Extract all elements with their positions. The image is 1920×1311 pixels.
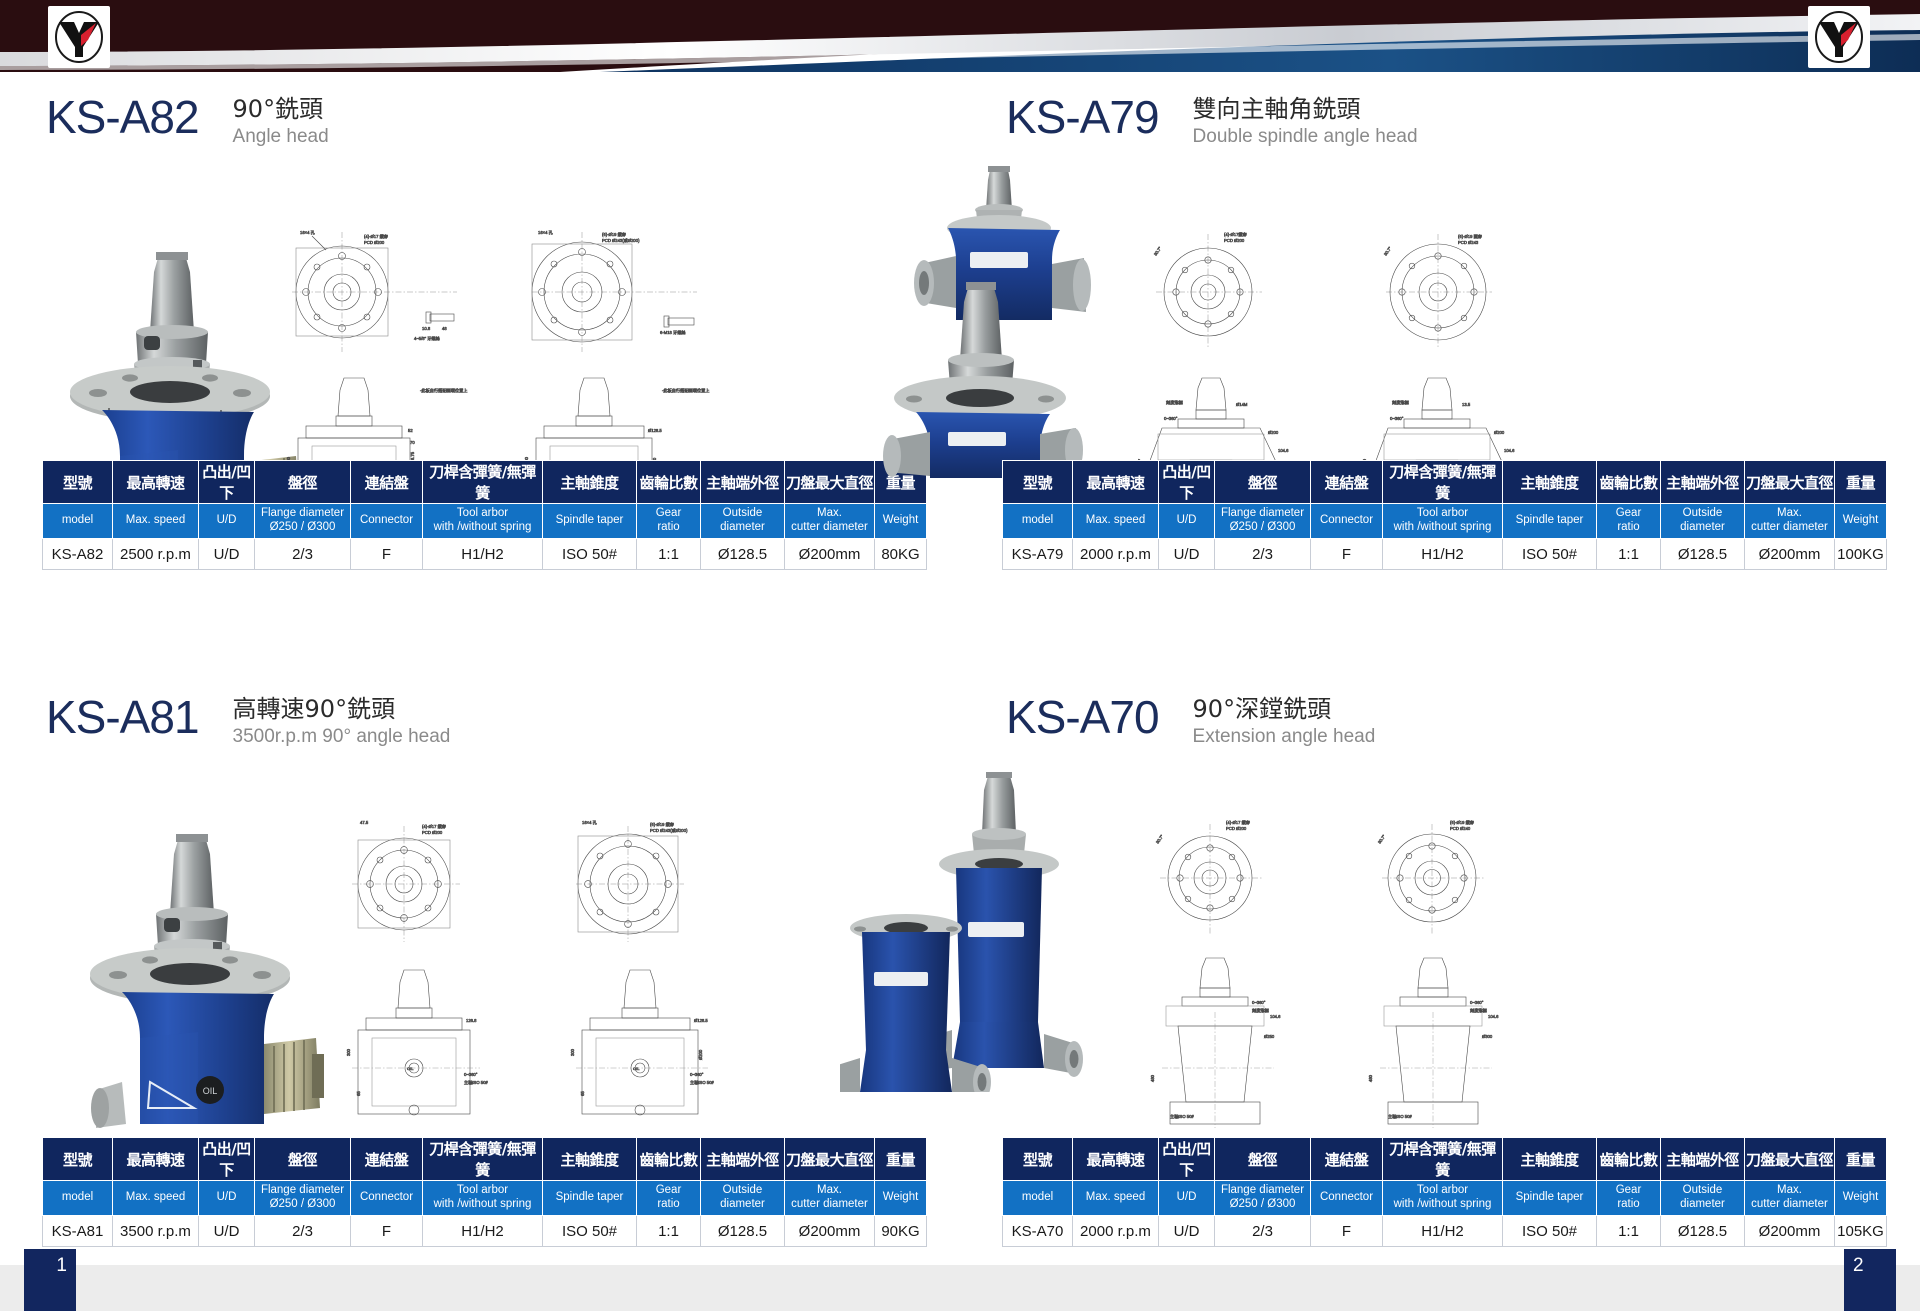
th-en-5: Tool arborwith /without spring — [423, 504, 543, 539]
th-zh-4: 連結盤 — [351, 461, 423, 504]
model-code: KS-A70 — [1006, 694, 1159, 740]
th-en-6: Spindle taper — [543, 1181, 637, 1216]
product-title-zh: 90°深鏜銑頭 — [1193, 695, 1376, 724]
svg-text:65: 65 — [356, 1091, 361, 1096]
svg-text:480: 480 — [1150, 1074, 1155, 1082]
svg-text:104.6: 104.6 — [1270, 1014, 1281, 1019]
th-zh-0: 型號 — [43, 461, 113, 504]
th-zh-5: 刀桿含彈簧/無彈簧 — [1383, 1138, 1503, 1181]
th-en-2: U/D — [199, 1181, 255, 1216]
spec-table-ks-a70: 型號 最高轉速 凸出/凹下 盤徑 連結盤 刀桿含彈簧/無彈簧 主軸錐度 齒輪比數… — [1002, 1137, 1887, 1247]
th-en-0: model — [1003, 1181, 1073, 1216]
th-zh-3: 盤徑 — [255, 1138, 351, 1181]
svg-text:65: 65 — [580, 1091, 585, 1096]
cell-ud: U/D — [199, 539, 255, 570]
th-en-7: Gearratio — [1597, 504, 1661, 539]
th-en-1: Max. speed — [1073, 504, 1159, 539]
cell-model: KS-A79 — [1003, 539, 1073, 570]
cell-max-speed: 2500 r.p.m — [113, 539, 199, 570]
svg-text:PCD Ø200: PCD Ø200 — [1224, 238, 1245, 243]
th-en-3: Flange diameterØ250 / Ø300 — [255, 1181, 351, 1216]
th-en-1: Max. speed — [113, 504, 199, 539]
svg-text:OIL: OIL — [203, 1086, 218, 1096]
th-zh-5: 刀桿含彈簧/無彈簧 — [423, 461, 543, 504]
th-en-2: U/D — [1159, 1181, 1215, 1216]
svg-text:300: 300 — [346, 1048, 351, 1056]
svg-text:Ø128.5: Ø128.5 — [648, 428, 662, 433]
svg-text:(6)-Ø19 圓穿: (6)-Ø19 圓穿 — [1458, 233, 1482, 240]
product-title-zh: 高轉速90°銑頭 — [233, 695, 451, 724]
svg-text:4~5/8" 牙螺絲: 4~5/8" 牙螺絲 — [414, 335, 441, 342]
th-zh-1: 最高轉速 — [113, 1138, 199, 1181]
th-en-6: Spindle taper — [1503, 504, 1597, 539]
cell-tool-arbor: H1/H2 — [423, 1216, 543, 1247]
th-en-0: model — [1003, 504, 1073, 539]
model-code: KS-A81 — [46, 694, 199, 740]
cell-max-speed: 2000 r.p.m — [1073, 1216, 1159, 1247]
th-zh-8: 主軸端外徑 — [1661, 1138, 1745, 1181]
product-title-ks-a70: KS-A70 90°深鏜銑頭 Extension angle head — [1006, 694, 1375, 748]
product-title-ks-a82: KS-A82 90°銑頭 Angle head — [46, 94, 329, 148]
cell-flange-diameter: 2/3 — [255, 539, 351, 570]
svg-text:0~360°: 0~360° — [1252, 1000, 1266, 1005]
cell-spindle-taper: ISO 50# — [1503, 539, 1597, 570]
header-row-zh: 型號 最高轉速 凸出/凹下 盤徑 連結盤 刀桿含彈簧/無彈簧 主軸錐度 齒輪比數… — [1003, 1138, 1887, 1181]
company-logo-left — [48, 6, 110, 68]
th-zh-8: 主軸端外徑 — [1661, 461, 1745, 504]
svg-text:104.6: 104.6 — [1488, 1014, 1499, 1019]
th-zh-1: 最高轉速 — [1073, 1138, 1159, 1181]
svg-text:主軸ISO 50#: 主軸ISO 50# — [464, 1079, 488, 1086]
th-zh-4: 連結盤 — [1311, 1138, 1383, 1181]
svg-text:PCD Ø200: PCD Ø200 — [364, 240, 385, 245]
svg-text:主軸ISO 50#: 主軸ISO 50# — [1388, 1113, 1412, 1120]
th-zh-10: 重量 — [1835, 1138, 1887, 1181]
svg-text:16×4 孔: 16×4 孔 — [582, 819, 598, 826]
ks-a70-extension-angle-head-photo — [840, 762, 1160, 1092]
th-en-8: Outsidediameter — [1661, 504, 1745, 539]
th-en-7: Gearratio — [637, 1181, 701, 1216]
th-en-8: Outsidediameter — [1661, 1181, 1745, 1216]
svg-text:PCD Ø243: PCD Ø243 — [1458, 240, 1479, 245]
th-en-0: model — [43, 504, 113, 539]
th-en-8: Outsidediameter — [701, 1181, 785, 1216]
cell-outside-diameter: Ø128.5 — [701, 539, 785, 570]
cell-ud: U/D — [199, 1216, 255, 1247]
product-title-en: Angle head — [233, 125, 329, 148]
th-zh-7: 齒輪比數 — [1597, 1138, 1661, 1181]
svg-text:300: 300 — [570, 1048, 575, 1056]
svg-text:OIL: OIL — [633, 1066, 640, 1071]
svg-text:52: 52 — [408, 428, 413, 433]
th-zh-10: 重量 — [1835, 461, 1887, 504]
cell-connector: F — [351, 1216, 423, 1247]
svg-text:(6)-Ø19 鑽穿: (6)-Ø19 鑽穿 — [602, 231, 626, 238]
svg-text:刻度指標: 刻度指標 — [1252, 1007, 1270, 1014]
product-title-en: Extension angle head — [1193, 725, 1376, 748]
product-title-en: Double spindle angle head — [1193, 125, 1418, 148]
svg-text:Ø200: Ø200 — [1268, 430, 1279, 435]
cell-model: KS-A70 — [1003, 1216, 1073, 1247]
cell-connector: F — [1311, 1216, 1383, 1247]
th-en-10: Weight — [875, 1181, 927, 1216]
cell-model: KS-A81 — [43, 1216, 113, 1247]
cell-weight: 105KG — [1835, 1216, 1887, 1247]
cell-connector: F — [1311, 539, 1383, 570]
svg-text:(4)-Ø17 鑽穿: (4)-Ø17 鑽穿 — [364, 233, 388, 240]
product-title-en: 3500r.p.m 90° angle head — [233, 725, 451, 748]
svg-text:PCD Ø240: PCD Ø240 — [1450, 826, 1471, 831]
top-banner — [0, 0, 1920, 72]
th-zh-6: 主軸錐度 — [1503, 461, 1597, 504]
cell-gear-ratio: 1:1 — [1597, 539, 1661, 570]
th-zh-2: 凸出/凹下 — [1159, 461, 1215, 504]
th-zh-10: 重量 — [875, 1138, 927, 1181]
th-zh-7: 齒輪比數 — [637, 461, 701, 504]
svg-text:-此板自行搭配圈環位置上: -此板自行搭配圈環位置上 — [420, 387, 467, 394]
cell-weight: 100KG — [1835, 539, 1887, 570]
svg-text:0~360°: 0~360° — [1164, 416, 1178, 421]
svg-text:(4)-Ø17 鑽穿: (4)-Ø17 鑽穿 — [1226, 819, 1250, 826]
svg-text:10.8: 10.8 — [422, 326, 431, 331]
svg-text:(6)-Ø19 鑽穿: (6)-Ø19 鑽穿 — [650, 821, 674, 828]
th-zh-7: 齒輪比數 — [637, 1138, 701, 1181]
cell-weight: 80KG — [875, 539, 927, 570]
svg-text:16×4 孔: 16×4 孔 — [300, 229, 316, 236]
svg-text:PCD Ø200: PCD Ø200 — [422, 830, 443, 835]
svg-text:0~360°: 0~360° — [690, 1072, 704, 1077]
cell-tool-arbor: H1/H2 — [423, 539, 543, 570]
th-zh-1: 最高轉速 — [113, 461, 199, 504]
th-en-6: Spindle taper — [1503, 1181, 1597, 1216]
th-en-0: model — [43, 1181, 113, 1216]
th-zh-8: 主軸端外徑 — [701, 1138, 785, 1181]
product-title-ks-a81: KS-A81 高轉速90°銑頭 3500r.p.m 90° angle head — [46, 694, 450, 748]
th-zh-3: 盤徑 — [1215, 1138, 1311, 1181]
th-en-4: Connector — [351, 1181, 423, 1216]
product-block-ks-a81: KS-A81 高轉速90°銑頭 3500r.p.m 90° angle head — [0, 672, 960, 1242]
cell-max-speed: 3500 r.p.m — [113, 1216, 199, 1247]
th-en-5: Tool arborwith /without spring — [423, 1181, 543, 1216]
spec-table-ks-a81: 型號 最高轉速 凸出/凹下 盤徑 連結盤 刀桿含彈簧/無彈簧 主軸錐度 齒輪比數… — [42, 1137, 927, 1247]
cell-spindle-taper: ISO 50# — [543, 539, 637, 570]
svg-text:Ø250: Ø250 — [1264, 1034, 1275, 1039]
th-zh-6: 主軸錐度 — [1503, 1138, 1597, 1181]
th-en-6: Spindle taper — [543, 504, 637, 539]
svg-text:(4)-Ø17 鑽穿: (4)-Ø17 鑽穿 — [422, 823, 446, 830]
th-en-4: Connector — [351, 504, 423, 539]
cell-max-cutter-diameter: Ø200mm — [1745, 539, 1835, 570]
cell-outside-diameter: Ø128.5 — [701, 1216, 785, 1247]
product-block-ks-a79: KS-A79 雙向主軸角銑頭 Double spindle angle head — [960, 72, 1920, 672]
svg-text:47.5: 47.5 — [360, 820, 369, 825]
th-zh-7: 齒輪比數 — [1597, 461, 1661, 504]
th-en-9: Max.cutter diameter — [1745, 504, 1835, 539]
svg-text:13.5: 13.5 — [1462, 402, 1471, 407]
cell-spindle-taper: ISO 50# — [543, 1216, 637, 1247]
svg-text:刻度指標: 刻度指標 — [1166, 399, 1184, 406]
footer-divider — [0, 1262, 1920, 1265]
header-row-en: model Max. speed U/D Flange diameterØ250… — [43, 1181, 927, 1216]
svg-text:30.7°: 30.7° — [1377, 833, 1387, 844]
svg-text:48: 48 — [442, 326, 447, 331]
svg-text:OIL: OIL — [407, 1066, 414, 1071]
cell-model: KS-A82 — [43, 539, 113, 570]
th-en-3: Flange diameterØ250 / Ø300 — [1215, 1181, 1311, 1216]
th-zh-5: 刀桿含彈簧/無彈簧 — [423, 1138, 543, 1181]
header-row-zh: 型號 最高轉速 凸出/凹下 盤徑 連結盤 刀桿含彈簧/無彈簧 主軸錐度 齒輪比數… — [43, 1138, 927, 1181]
header-row-en: model Max. speed U/D Flange diameterØ250… — [1003, 504, 1887, 539]
th-zh-6: 主軸錐度 — [543, 1138, 637, 1181]
th-zh-2: 凸出/凹下 — [199, 1138, 255, 1181]
ks-a70-technical-drawings: (4)-Ø17 鑽穿 PCD Ø200 30.7° (6)-Ø19 鑽穿 PCD… — [1140, 812, 1840, 1132]
spec-table-ks-a82: 型號 最高轉速 凸出/凹下 盤徑 連結盤 刀桿含彈簧/無彈簧 主軸錐度 齒輪比數… — [42, 460, 927, 570]
th-en-5: Tool arborwith /without spring — [1383, 504, 1503, 539]
cell-gear-ratio: 1:1 — [637, 1216, 701, 1247]
th-en-2: U/D — [1159, 504, 1215, 539]
svg-text:Ø14M: Ø14M — [1236, 402, 1248, 407]
svg-text:104.6: 104.6 — [1278, 448, 1289, 453]
svg-text:126.8: 126.8 — [466, 1018, 477, 1023]
cell-flange-diameter: 2/3 — [1215, 1216, 1311, 1247]
ks-a81-high-speed-angle-head-photo: OIL — [78, 832, 328, 1132]
svg-text:主軸ISO 50#: 主軸ISO 50# — [1170, 1113, 1194, 1120]
footer-bar — [0, 1265, 1920, 1311]
svg-text:0~360°: 0~360° — [1390, 416, 1404, 421]
cell-max-speed: 2000 r.p.m — [1073, 539, 1159, 570]
svg-text:刻度指標: 刻度指標 — [1392, 399, 1410, 406]
svg-text:Ø200: Ø200 — [698, 1049, 703, 1060]
company-y-logo-icon — [1812, 9, 1866, 65]
th-en-3: Flange diameterØ250 / Ø300 — [1215, 504, 1311, 539]
th-en-9: Max.cutter diameter — [1745, 1181, 1835, 1216]
product-title-zh: 90°銑頭 — [233, 95, 329, 124]
cell-flange-diameter: 2/3 — [255, 1216, 351, 1247]
svg-text:Ø128.5: Ø128.5 — [694, 1018, 708, 1023]
th-en-1: Max. speed — [1073, 1181, 1159, 1216]
th-zh-9: 刀盤最大直徑 — [1745, 461, 1835, 504]
ks-a79-double-spindle-photo — [860, 152, 1180, 482]
th-zh-9: 刀盤最大直徑 — [1745, 1138, 1835, 1181]
th-zh-5: 刀桿含彈簧/無彈簧 — [1383, 461, 1503, 504]
th-zh-2: 凸出/凹下 — [1159, 1138, 1215, 1181]
page-number-right: 2 — [1844, 1249, 1896, 1311]
cell-ud: U/D — [1159, 539, 1215, 570]
th-zh-2: 凸出/凹下 — [199, 461, 255, 504]
th-en-9: Max.cutter diameter — [785, 1181, 875, 1216]
product-title-zh: 雙向主軸角銑頭 — [1193, 95, 1418, 124]
svg-text:Ø300: Ø300 — [1482, 1034, 1493, 1039]
th-zh-0: 型號 — [43, 1138, 113, 1181]
th-en-10: Weight — [1835, 504, 1887, 539]
svg-text:6-M18 牙螺絲: 6-M18 牙螺絲 — [660, 329, 686, 336]
product-block-ks-a82: KS-A82 90°銑頭 Angle head — [0, 72, 960, 672]
svg-text:16×4 孔: 16×4 孔 — [538, 229, 554, 236]
table-row: KS-A79 2000 r.p.m U/D 2/3 F H1/H2 ISO 50… — [1003, 539, 1887, 570]
page-number-left: 1 — [24, 1249, 76, 1311]
th-en-1: Max. speed — [113, 1181, 199, 1216]
th-zh-0: 型號 — [1003, 1138, 1073, 1181]
model-code: KS-A79 — [1006, 94, 1159, 140]
company-y-logo-icon — [52, 9, 106, 65]
cell-max-cutter-diameter: Ø200mm — [1745, 1216, 1835, 1247]
header-row-en: model Max. speed U/D Flange diameterØ250… — [43, 504, 927, 539]
cell-gear-ratio: 1:1 — [637, 539, 701, 570]
product-block-ks-a70: KS-A70 90°深鏜銑頭 Extension angle head — [960, 672, 1920, 1242]
th-en-8: Outsidediameter — [701, 504, 785, 539]
th-en-2: U/D — [199, 504, 255, 539]
svg-text:PCD Ø243(或Ø200): PCD Ø243(或Ø200) — [650, 827, 688, 833]
header-row-en: model Max. speed U/D Flange diameterØ250… — [1003, 1181, 1887, 1216]
cell-outside-diameter: Ø128.5 — [1661, 1216, 1745, 1247]
company-logo-right — [1808, 6, 1870, 68]
cell-max-cutter-diameter: Ø200mm — [785, 1216, 875, 1247]
th-zh-1: 最高轉速 — [1073, 461, 1159, 504]
svg-text:30.7°: 30.7° — [1155, 833, 1165, 844]
th-zh-3: 盤徑 — [1215, 461, 1311, 504]
cell-connector: F — [351, 539, 423, 570]
th-en-4: Connector — [1311, 504, 1383, 539]
cell-gear-ratio: 1:1 — [1597, 1216, 1661, 1247]
svg-text:104.6: 104.6 — [1504, 448, 1515, 453]
header-row-zh: 型號 最高轉速 凸出/凹下 盤徑 連結盤 刀桿含彈簧/無彈簧 主軸錐度 齒輪比數… — [43, 461, 927, 504]
cell-tool-arbor: H1/H2 — [1383, 1216, 1503, 1247]
svg-text:(6)-Ø19 鑽穿: (6)-Ø19 鑽穿 — [1450, 819, 1474, 826]
svg-text:30.7°: 30.7° — [1153, 245, 1163, 256]
svg-text:Ø200: Ø200 — [1494, 430, 1505, 435]
svg-text:30.7°: 30.7° — [1383, 245, 1393, 256]
product-title-ks-a79: KS-A79 雙向主軸角銑頭 Double spindle angle head — [1006, 94, 1418, 148]
svg-text:-此板自行搭配圈環位置上: -此板自行搭配圈環位置上 — [662, 387, 709, 394]
svg-text:0~360°: 0~360° — [464, 1072, 478, 1077]
th-zh-4: 連結盤 — [351, 1138, 423, 1181]
th-en-3: Flange diameterØ250 / Ø300 — [255, 504, 351, 539]
th-en-9: Max.cutter diameter — [785, 504, 875, 539]
header-row-zh: 型號 最高轉速 凸出/凹下 盤徑 連結盤 刀桿含彈簧/無彈簧 主軸錐度 齒輪比數… — [1003, 461, 1887, 504]
th-en-7: Gearratio — [637, 504, 701, 539]
table-row: KS-A81 3500 r.p.m U/D 2/3 F H1/H2 ISO 50… — [43, 1216, 927, 1247]
th-zh-9: 刀盤最大直徑 — [785, 1138, 875, 1181]
cell-tool-arbor: H1/H2 — [1383, 539, 1503, 570]
svg-text:0~360°: 0~360° — [1470, 1000, 1484, 1005]
svg-text:刻度指標: 刻度指標 — [1470, 1007, 1488, 1014]
th-zh-3: 盤徑 — [255, 461, 351, 504]
svg-text:PCD Ø200: PCD Ø200 — [1226, 826, 1247, 831]
model-code: KS-A82 — [46, 94, 199, 140]
th-en-4: Connector — [1311, 1181, 1383, 1216]
cell-max-cutter-diameter: Ø200mm — [785, 539, 875, 570]
svg-text:主軸ISO 50#: 主軸ISO 50# — [690, 1079, 714, 1086]
table-row: KS-A82 2500 r.p.m U/D 2/3 F H1/H2 ISO 50… — [43, 539, 927, 570]
spec-table-ks-a79: 型號 最高轉速 凸出/凹下 盤徑 連結盤 刀桿含彈簧/無彈簧 主軸錐度 齒輪比數… — [1002, 460, 1887, 570]
th-en-7: Gearratio — [1597, 1181, 1661, 1216]
th-zh-6: 主軸錐度 — [543, 461, 637, 504]
cell-weight: 90KG — [875, 1216, 927, 1247]
svg-text:PCD Ø243(或Ø200): PCD Ø243(或Ø200) — [602, 237, 640, 243]
th-en-10: Weight — [1835, 1181, 1887, 1216]
th-zh-8: 主軸端外徑 — [701, 461, 785, 504]
th-zh-4: 連結盤 — [1311, 461, 1383, 504]
cell-flange-diameter: 2/3 — [1215, 539, 1311, 570]
svg-text:70: 70 — [410, 440, 415, 445]
cell-spindle-taper: ISO 50# — [1503, 1216, 1597, 1247]
th-zh-0: 型號 — [1003, 461, 1073, 504]
th-en-5: Tool arborwith /without spring — [1383, 1181, 1503, 1216]
cell-outside-diameter: Ø128.5 — [1661, 539, 1745, 570]
table-row: KS-A70 2000 r.p.m U/D 2/3 F H1/H2 ISO 50… — [1003, 1216, 1887, 1247]
cell-ud: U/D — [1159, 1216, 1215, 1247]
svg-text:480: 480 — [1368, 1074, 1373, 1082]
th-en-10: Weight — [875, 504, 927, 539]
svg-text:(4)-Ø17鑽穿: (4)-Ø17鑽穿 — [1224, 231, 1247, 238]
